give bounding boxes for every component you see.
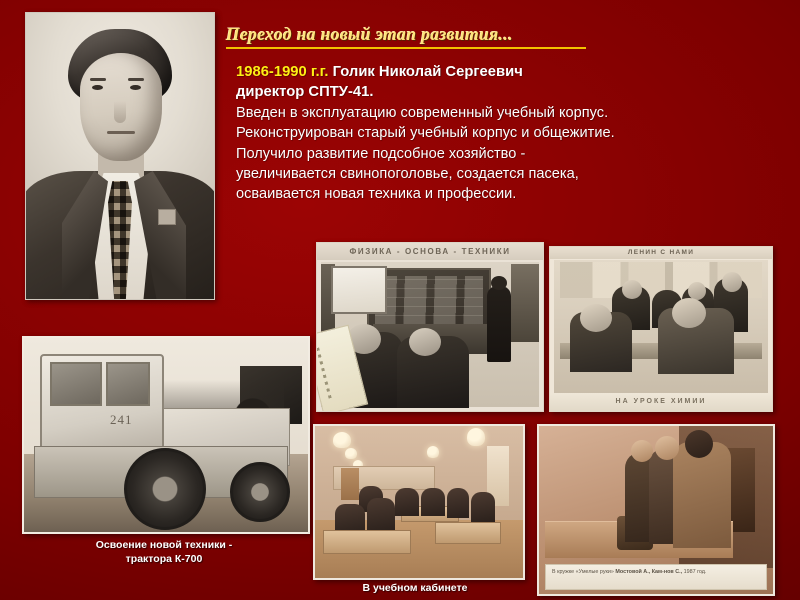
photo-tractor-k700: 241 (22, 336, 310, 534)
classroom-door (341, 468, 359, 500)
photo-chemistry-lesson: ЛЕНИН С НАМИ НА УРОКЕ ХИМИИ (549, 246, 773, 412)
photo-director-portrait (25, 12, 215, 300)
chemistry-head-back-1 (622, 280, 642, 299)
workshop-head-2 (655, 436, 679, 460)
presentation-slide: Переход на новый этап развития... 1986-1… (0, 0, 800, 600)
classroom-lamp-2 (345, 448, 357, 459)
tractor-wheel-rear (230, 462, 290, 522)
chemistry-photo-caption: НА УРОКЕ ХИМИИ (550, 393, 772, 411)
years-range: 1986-1990 г.г. (236, 64, 328, 80)
body-line-5: осваивается новая техника и профессии. (236, 184, 706, 204)
director-name: Голик Николай Сергеевич (333, 64, 523, 80)
caption-tractor: Освоение новой техники - трактора К-700 (22, 538, 306, 566)
workshop-caption-bold-1: Мостовой А., Кам- (615, 569, 663, 575)
physics-student-head-2 (409, 328, 441, 356)
classroom-pupil-3 (395, 488, 419, 516)
chemistry-head-front-1 (580, 304, 612, 332)
tractor-window-left (50, 362, 102, 406)
classroom-pupil-4 (421, 488, 445, 516)
page-title: Переход на новый этап развития... (226, 24, 586, 49)
tractor-window-right (106, 362, 150, 406)
portrait-brow-left (90, 78, 106, 81)
body-line-2: Реконструирован старый учебный корпус и … (236, 123, 706, 143)
photo-workshop-circle: В кружке «Умелые руки» Мостовой А., Кам-… (537, 424, 775, 596)
body-text-block: 1986-1990 г.г. Голик Николай Сергеевич д… (236, 62, 706, 205)
physics-banner-text: ФИЗИКА - ОСНОВА - ТЕХНИКИ (317, 243, 543, 260)
classroom-lamp-5 (467, 428, 485, 446)
workshop-caption-bold-2: нов С., (664, 569, 682, 575)
chemistry-head-back-3 (722, 272, 742, 292)
chemistry-head-front-2 (672, 298, 706, 328)
director-headline: 1986-1990 г.г. Голик Николай Сергеевич (236, 62, 706, 82)
chemistry-wall-banner: ЛЕНИН С НАМИ (550, 247, 772, 259)
classroom-lamp-4 (427, 446, 439, 458)
classroom-pupil-6 (471, 492, 495, 522)
physics-cabinet-right (511, 264, 539, 342)
director-position: директор СПТУ-41. (236, 82, 706, 102)
portrait-brow-right (128, 78, 144, 81)
photo-physics-classroom: ФИЗИКА - ОСНОВА - ТЕХНИКИ (316, 242, 544, 412)
body-line-1: Введен в эксплуатацию современный учебны… (236, 103, 706, 123)
workshop-head-3 (685, 430, 713, 458)
photo-classroom-interior (313, 424, 525, 580)
classroom-lamp-1 (333, 432, 351, 448)
portrait-eye-left (92, 85, 103, 90)
classroom-pupil-5 (447, 488, 469, 518)
physics-room (321, 262, 539, 407)
workshop-person-3 (673, 442, 731, 548)
classroom-desk-2 (435, 522, 501, 544)
body-line-4: увеличивается свинопоголовье, создается … (236, 164, 706, 184)
workshop-head-1 (631, 440, 653, 462)
caption-tractor-line2: трактора К-700 (22, 552, 306, 566)
tractor-wheel-front (124, 448, 206, 530)
portrait-eye-right (130, 85, 141, 90)
workshop-caption-plain-2: 1987 год. (682, 569, 706, 575)
classroom-pupil-2 (367, 498, 395, 532)
physics-teacher (487, 286, 511, 362)
portrait-lapel-badge (158, 209, 176, 225)
chemistry-scene (554, 260, 768, 393)
caption-tractor-line1: Освоение новой техники - (22, 538, 306, 552)
physics-projection-screen (331, 266, 387, 314)
portrait-nose (114, 101, 126, 123)
workshop-caption-plain-1: В кружке «Умелые руки» (552, 569, 615, 575)
portrait-mouth (107, 131, 135, 134)
caption-classroom: В учебном кабинете (300, 581, 530, 595)
tractor-door-number: 241 (110, 412, 133, 428)
body-line-3: Получило развитие подсобное хозяйство - (236, 144, 706, 164)
workshop-photo-caption: В кружке «Умелые руки» Мостовой А., Кам-… (545, 564, 767, 590)
classroom-desk-1 (323, 530, 411, 554)
